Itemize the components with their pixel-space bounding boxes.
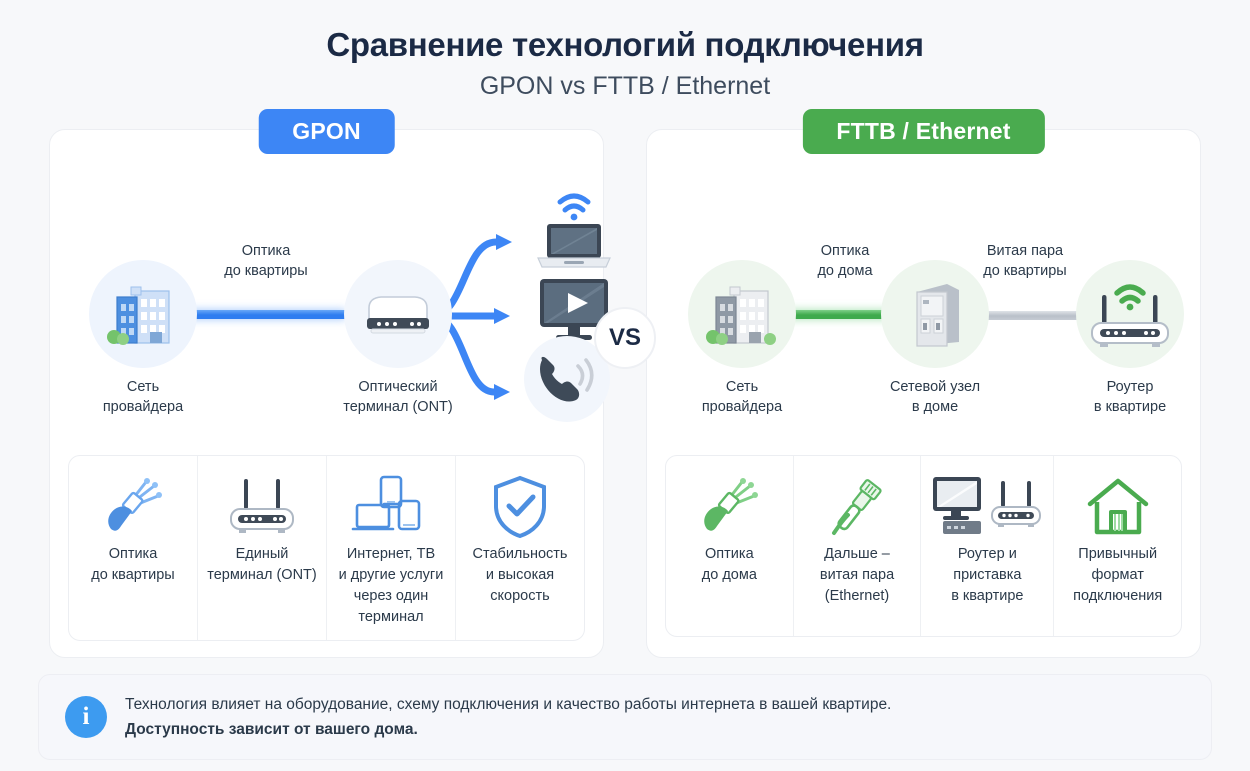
card-label: Дальше – витая пара (Ethernet) (802, 544, 913, 607)
card-icon-slot (77, 470, 189, 544)
card-icon-slot (335, 470, 447, 544)
footer-note: i Технология влияет на оборудование, схе… (38, 674, 1212, 760)
card-icon-slot (674, 470, 785, 544)
router-icon (223, 475, 301, 539)
card-label: Оптика до квартиры (77, 544, 189, 586)
fttb-cabinet-bubble (881, 260, 989, 368)
footer-line-2: Доступность зависит от вашего дома. (125, 717, 891, 742)
gpon-feature-cards: Оптика до квартиры Единый терминал (ONT) (68, 455, 585, 641)
card-icon-slot (464, 470, 576, 544)
card-icon-slot (802, 470, 913, 544)
info-icon: i (65, 696, 107, 738)
fttb-diagram: Оптика до дома Витая пара до квартиры (665, 164, 1182, 449)
office-building-icon (703, 275, 781, 353)
gpon-card[interactable]: Интернет, ТВ и другие услуги через один … (327, 456, 456, 640)
gpon-card[interactable]: Оптика до квартиры (69, 456, 198, 640)
fttb-node-label: Сетевой узел в доме (870, 378, 1000, 417)
phone-handset-icon (530, 346, 604, 412)
card-label: Оптика до дома (674, 544, 785, 586)
office-building-icon (104, 275, 182, 353)
panel-fttb: FTTB / Ethernet Оптика до дома Витая пар… (646, 129, 1201, 658)
multi-devices-icon (349, 475, 433, 539)
badge-fttb: FTTB / Ethernet (802, 109, 1044, 154)
fiber-cable-icon (102, 476, 164, 538)
fiber-cable-icon (698, 476, 760, 538)
badge-gpon: GPON (258, 109, 395, 154)
fttb-card[interactable]: Дальше – витая пара (Ethernet) (794, 456, 922, 636)
gpon-provider-bubble (89, 260, 197, 368)
card-label: Интернет, ТВ и другие услуги через один … (335, 544, 447, 628)
wifi-router-icon (1084, 273, 1176, 355)
panel-gpon: GPON Оптика до квартиры (49, 129, 604, 658)
fttb-card[interactable]: Оптика до дома (666, 456, 794, 636)
page-subtitle: GPON vs FTTB / Ethernet (0, 72, 1250, 101)
card-icon-slot (1062, 470, 1173, 544)
footer-line-1: Технология влияет на оборудование, схему… (125, 696, 891, 713)
card-label: Роутер и приставка в квартире (929, 544, 1045, 607)
footer-text: Технология влияет на оборудование, схему… (125, 692, 891, 742)
ont-terminal-icon (357, 284, 439, 344)
gpon-diagram: Оптика до квартиры (68, 164, 585, 449)
fttb-provider-bubble (688, 260, 796, 368)
gpon-card[interactable]: Единый терминал (ONT) (198, 456, 327, 640)
gpon-node-label: Оптический терминал (ONT) (313, 378, 483, 417)
page-header: Сравнение технологий подключения GPON vs… (0, 0, 1250, 101)
fttb-node-cabinet: Сетевой узел в доме (870, 260, 1000, 417)
fttb-card[interactable]: Роутер и приставка в квартире (921, 456, 1054, 636)
card-icon-slot (206, 470, 318, 544)
fttb-feature-cards: Оптика до дома Дальше – витая пара (Et (665, 455, 1182, 637)
page-title: Сравнение технологий подключения (0, 26, 1250, 64)
gpon-node-provider: Сеть провайдера (78, 260, 208, 417)
card-label: Стабильность и высокая скорость (464, 544, 576, 607)
ethernet-plug-icon (826, 475, 888, 539)
fttb-node-label: Сеть провайдера (677, 378, 807, 417)
gpon-ont-bubble (344, 260, 452, 368)
vs-badge: VS (594, 307, 656, 369)
fttb-node-label: Роутер в квартире (1065, 378, 1195, 417)
network-cabinet-icon (903, 276, 967, 352)
comparison-panels: VS GPON Оптика до квартиры (0, 129, 1250, 658)
fttb-node-router: Роутер в квартире (1065, 260, 1195, 417)
gpon-card[interactable]: Стабильность и высокая скорость (456, 456, 584, 640)
gpon-node-label: Сеть провайдера (78, 378, 208, 417)
shield-check-icon (490, 474, 550, 540)
card-label: Единый терминал (ONT) (206, 544, 318, 586)
gpon-node-ont: Оптический терминал (ONT) (313, 260, 483, 417)
fttb-card[interactable]: Привычный формат подключения (1054, 456, 1181, 636)
card-label: Привычный формат подключения (1062, 544, 1173, 607)
tv-router-icon (929, 475, 1045, 539)
home-icon (1084, 476, 1152, 538)
fttb-router-bubble (1076, 260, 1184, 368)
card-icon-slot (929, 470, 1045, 544)
fttb-node-provider: Сеть провайдера (677, 260, 807, 417)
